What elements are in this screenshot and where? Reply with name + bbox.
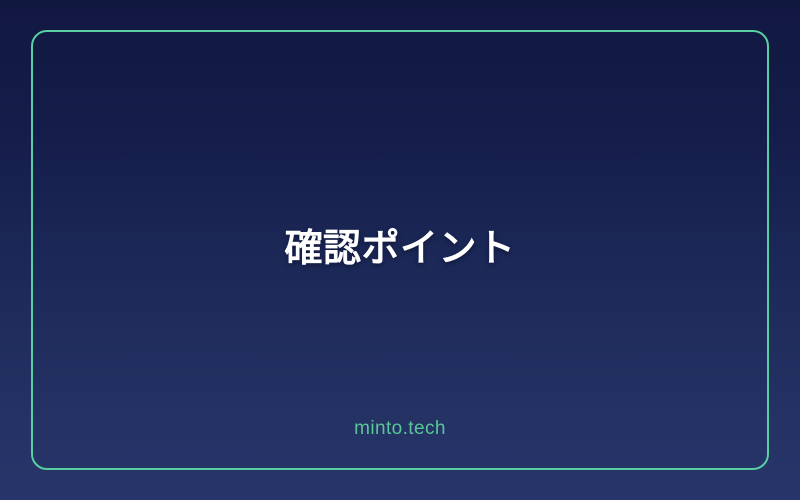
slide-title: 確認ポイント [260,226,539,274]
brand-label: minto.tech [354,418,446,441]
slide-content-area: 確認ポイント [31,30,769,470]
slide-footer: minto.tech [31,418,769,441]
slide-canvas: 確認ポイント minto.tech [0,0,800,500]
